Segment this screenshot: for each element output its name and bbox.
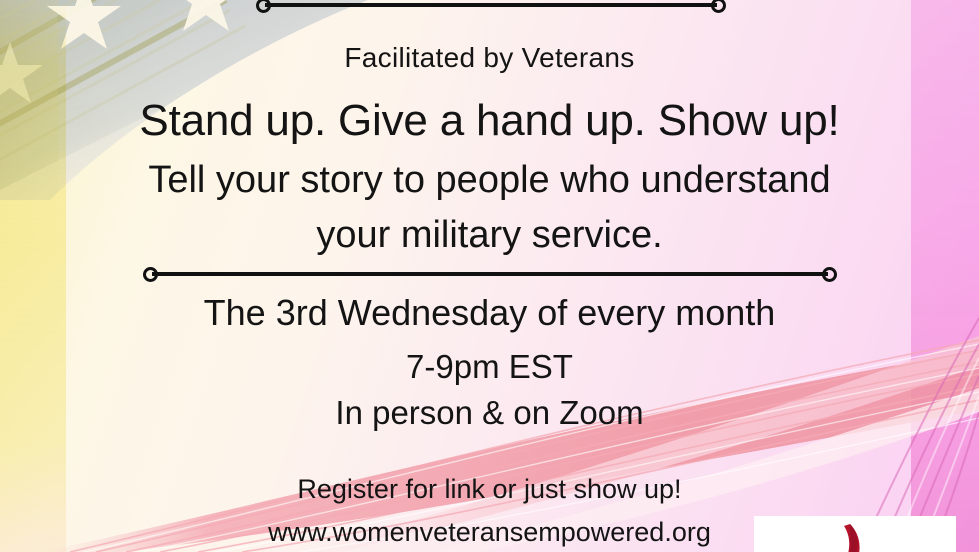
organization-logo[interactable] bbox=[754, 516, 956, 552]
top-divider-rule bbox=[256, 0, 726, 14]
eyebrow-text: Facilitated by Veterans bbox=[0, 44, 979, 72]
meeting-time: 7-9pm EST bbox=[0, 350, 979, 383]
register-call-to-action: Register for link or just show up! bbox=[0, 476, 979, 503]
meeting-date: The 3rd Wednesday of every month bbox=[0, 295, 979, 331]
meeting-mode: In person & on Zoom bbox=[0, 396, 979, 429]
event-flyer: Facilitated by Veterans Stand up. Give a… bbox=[0, 0, 979, 552]
rule-cap-right bbox=[822, 267, 837, 282]
rule-cap-right bbox=[711, 0, 726, 13]
middle-divider-rule bbox=[143, 265, 837, 283]
rule-bar bbox=[265, 3, 717, 7]
page-title: Stand up. Give a hand up. Show up! bbox=[0, 99, 979, 143]
subheadline-line-2: your military service. bbox=[0, 216, 979, 254]
subheadline-line-1: Tell your story to people who understand bbox=[0, 161, 979, 199]
rule-bar bbox=[152, 272, 828, 276]
logo-red-swoosh-icon bbox=[754, 516, 956, 552]
